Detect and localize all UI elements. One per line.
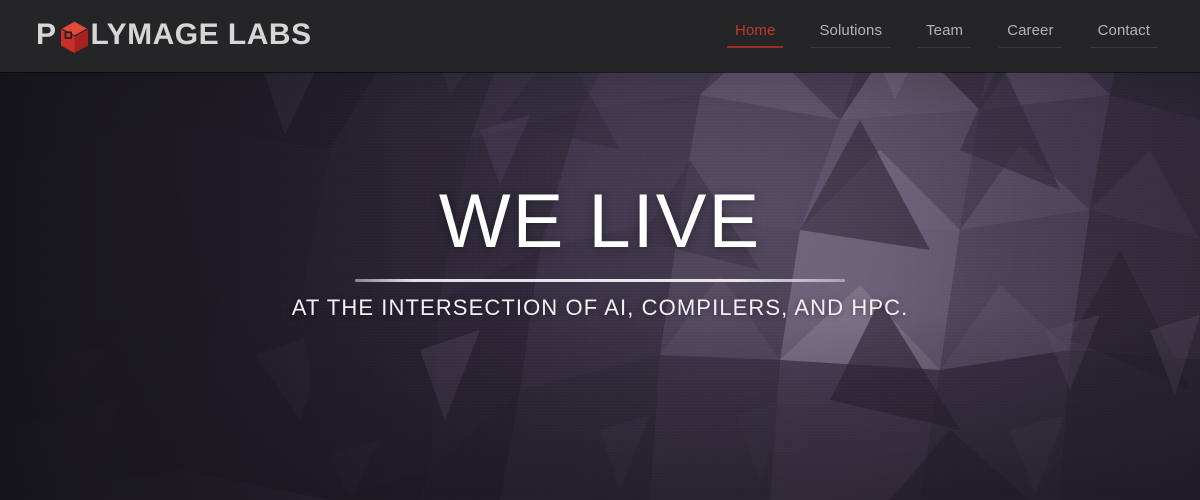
hero-divider — [355, 279, 845, 282]
nav-item-home[interactable]: Home — [713, 22, 797, 48]
nav-item-solutions[interactable]: Solutions — [797, 22, 904, 48]
hero-content: WE LIVE AT THE INTERSECTION OF AI, COMPI… — [0, 72, 1200, 500]
brand-text-after: LYMAGE LABS — [91, 20, 312, 50]
brand-logo[interactable]: P LYMAGE LABS — [36, 14, 312, 56]
hero-title: WE LIVE — [439, 182, 761, 262]
page-root: WE LIVE AT THE INTERSECTION OF AI, COMPI… — [0, 0, 1200, 500]
hero-section: WE LIVE AT THE INTERSECTION OF AI, COMPI… — [0, 0, 1200, 500]
hero-subtitle: AT THE INTERSECTION OF AI, COMPILERS, AN… — [292, 294, 909, 322]
cube-icon — [59, 20, 90, 54]
main-navigation: Home Solutions Team Career Contact — [713, 22, 1172, 48]
site-header: P LYMAGE LABS Home Solutions Team Career… — [0, 0, 1200, 72]
brand-text-before: P — [36, 20, 57, 50]
nav-item-contact[interactable]: Contact — [1076, 22, 1172, 48]
nav-item-team[interactable]: Team — [904, 22, 985, 48]
nav-item-career[interactable]: Career — [985, 22, 1075, 48]
